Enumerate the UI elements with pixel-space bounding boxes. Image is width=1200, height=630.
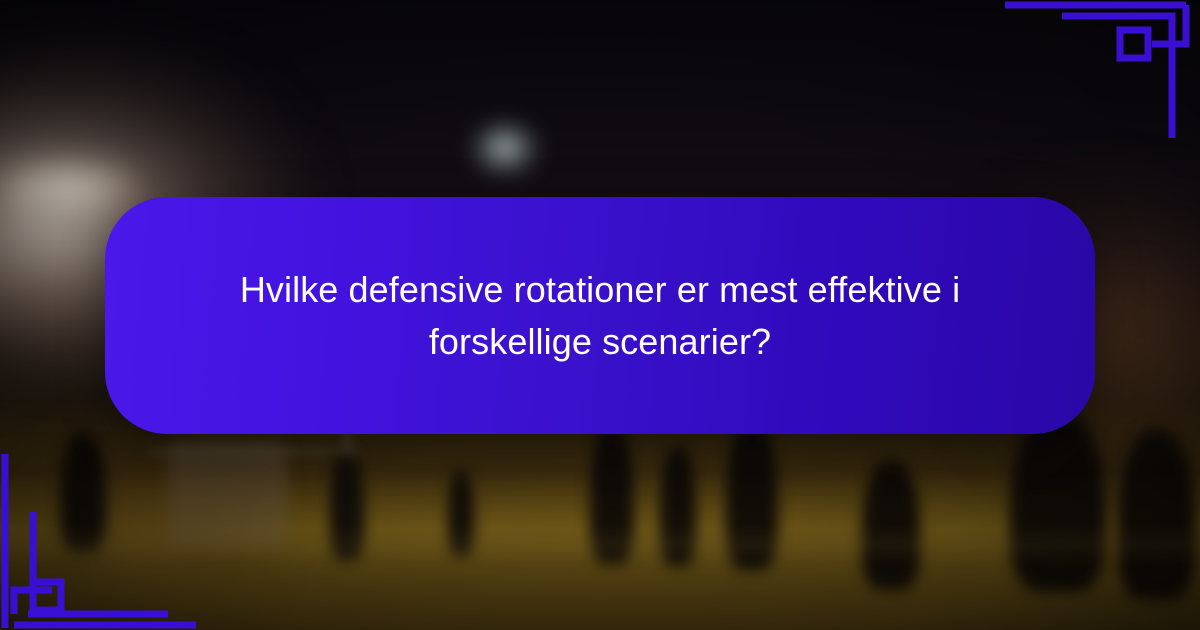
og-card-root: Hvilke defensive rotationer er mest effe… (0, 0, 1200, 630)
question-card: Hvilke defensive rotationer er mest effe… (105, 197, 1095, 434)
question-text: Hvilke defensive rotationer er mest effe… (205, 264, 995, 366)
